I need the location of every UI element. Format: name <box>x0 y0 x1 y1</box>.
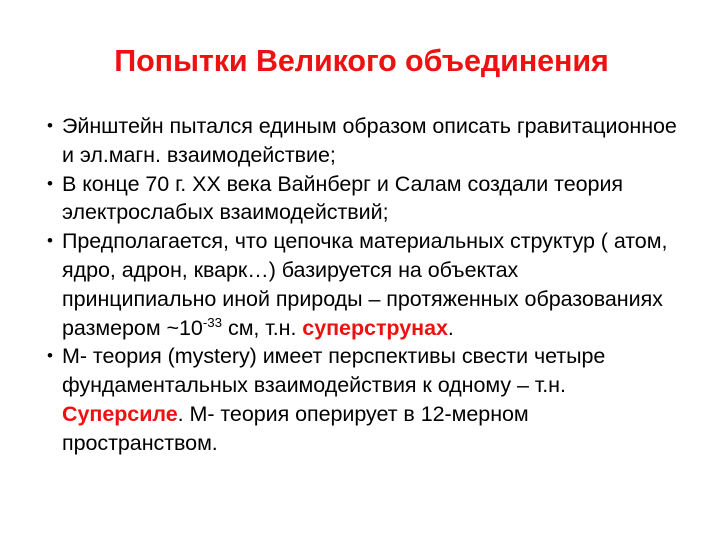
superstrings-text-part3: . <box>448 316 454 340</box>
page-title: Попытки Великого объединения <box>24 44 699 79</box>
slide-canvas: Попытки Великого объединения • Эйнштейн … <box>0 0 720 540</box>
bullet-text-einstein: Эйнштейн пытался единым образом описать … <box>62 112 678 170</box>
bullet-dot-icon: • <box>47 112 61 141</box>
bullet-dot-icon: • <box>47 227 61 256</box>
bullet-text-m-theory: М- теория (mystery) имеет перспективы св… <box>62 342 678 457</box>
bullet-text-weinberg-salam: В конце 70 г. XX века Вайнберг и Салам с… <box>62 170 678 228</box>
superstrings-text-part2: см, т.н. <box>222 316 302 340</box>
bullet-list: • Эйнштейн пытался единым образом описат… <box>44 112 678 458</box>
bullet-dot-icon: • <box>47 342 61 371</box>
m-theory-highlight-term: Суперсиле <box>62 402 178 426</box>
list-item[interactable]: • Предполагается, что цепочка материальн… <box>44 227 678 342</box>
superstrings-exponent: -33 <box>203 314 222 329</box>
list-item[interactable]: • В конце 70 г. XX века Вайнберг и Салам… <box>44 170 678 228</box>
bullet-dot-icon: • <box>47 170 61 199</box>
list-item[interactable]: • Эйнштейн пытался единым образом описат… <box>44 112 678 170</box>
list-item[interactable]: • М- теория (mystery) имеет перспективы … <box>44 342 678 457</box>
bullet-text-superstrings: Предполагается, что цепочка материальных… <box>62 227 678 342</box>
m-theory-text-part1: М- теория (mystery) имеет перспективы св… <box>62 344 605 397</box>
superstrings-highlight-term: суперструнах <box>302 316 448 340</box>
